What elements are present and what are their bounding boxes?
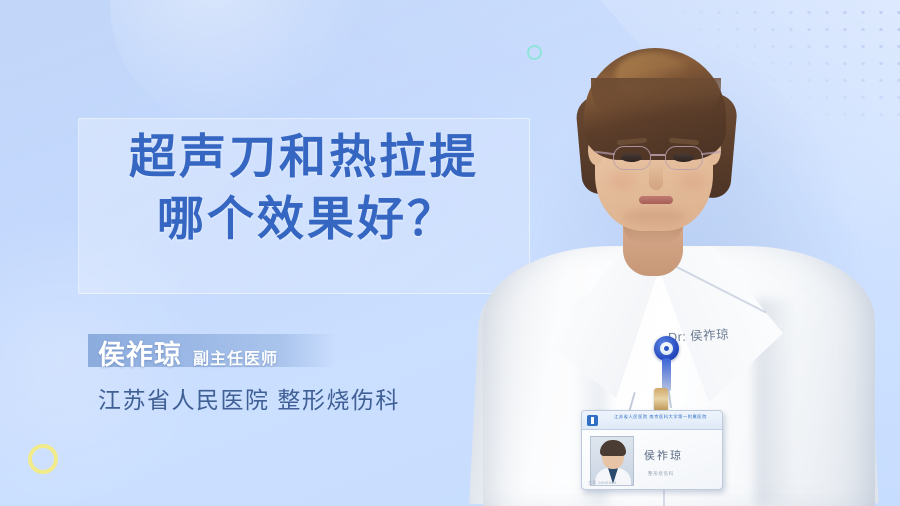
doctor-rank: 副主任医师 bbox=[193, 345, 278, 369]
id-badge-name: 侯祚琼 bbox=[644, 447, 683, 463]
hospital-logo-icon bbox=[587, 415, 598, 426]
doctor-name: 侯祚琼 bbox=[98, 333, 182, 372]
hair-bangs bbox=[591, 78, 721, 122]
id-badge-card: 江苏省人民医院 南京医科大学第一附属医院 侯祚琼 整形烧伤科 工号 000000… bbox=[581, 410, 723, 490]
decorative-ring-yellow-icon bbox=[28, 444, 58, 474]
chin-shadow bbox=[623, 208, 685, 224]
eyeglasses-lens-right bbox=[665, 146, 703, 170]
id-badge-department: 整形烧伤科 bbox=[648, 471, 674, 477]
mouth bbox=[639, 196, 673, 204]
doctor-portrait: Dr: 侯祚琼 江苏省人民医院 南京医科大学第一附属医院 侯祚琼 整形烧伤科 工… bbox=[455, 0, 900, 506]
id-badge-photo bbox=[590, 436, 634, 486]
id-photo-hair bbox=[600, 440, 626, 456]
badge-reel-strap bbox=[662, 358, 671, 392]
badge-reel-center-dot bbox=[664, 346, 669, 351]
nose bbox=[649, 164, 663, 190]
badge-clip bbox=[654, 388, 668, 412]
thumbnail-canvas: 超声刀和热拉提 哪个效果好？ 侯祚琼 副主任医师 江苏省人民医院 整形烧伤科 D… bbox=[0, 0, 900, 506]
eyeglasses-lens-left bbox=[613, 146, 651, 170]
doctor-name-row: 侯祚琼 副主任医师 bbox=[98, 333, 278, 372]
id-badge-hospital-name: 江苏省人民医院 南京医科大学第一附属医院 bbox=[603, 414, 718, 420]
cheek-left bbox=[609, 172, 635, 190]
eyeglasses-bridge bbox=[651, 154, 665, 156]
doctor-affiliation: 江苏省人民医院 整形烧伤科 bbox=[98, 381, 400, 415]
id-badge-footer: 工号 0000000 bbox=[588, 480, 617, 486]
cheek-right bbox=[679, 172, 705, 190]
